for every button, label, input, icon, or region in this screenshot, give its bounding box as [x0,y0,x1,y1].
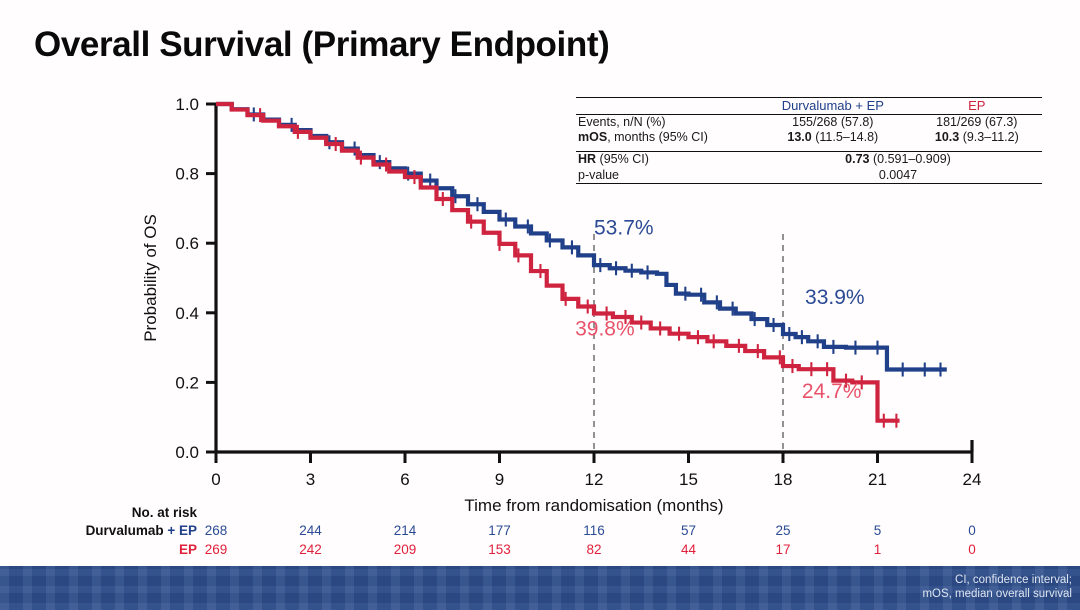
y-axis-title: Probability of OS [141,214,160,342]
risk-value: 0 [950,542,994,557]
x-tick-label-6: 18 [774,470,793,489]
risk-value: 57 [667,523,711,538]
stats-label-mos-bold: mOS [578,130,607,144]
stats-mos-durvalumab-value: 13.0 [787,130,811,144]
risk-value: 214 [383,523,427,538]
footnote-abbreviations: CI, confidence interval; mOS, median ove… [922,574,1072,601]
stats-events-ep: 181/269 (67.3) [912,114,1042,130]
stats-row-mos: mOS, months (95% CI) 13.0 (11.5–14.8) 10… [576,130,1042,146]
stats-row-pvalue: p-value 0.0047 [576,168,1042,184]
x-tick-label-7: 21 [868,470,887,489]
stats-mos-ep-ci: (9.3–11.2) [959,130,1019,144]
x-tick-label-3: 9 [495,470,504,489]
x-tick-label-5: 15 [679,470,698,489]
risk-value: 25 [761,523,805,538]
stats-header-durvalumab: Durvalumab + EP [754,98,912,115]
stats-label-hr: HR (95% CI) [576,152,754,168]
stats-mos-durvalumab: 13.0 (11.5–14.8) [754,130,912,146]
risk-value: 17 [761,542,805,557]
risk-value: 244 [289,523,333,538]
slide-root: Overall Survival (Primary Endpoint) 0.00… [0,0,1080,610]
annotation-33-9pct: 33.9% [805,286,865,309]
stats-label-hr-bold: HR [578,152,596,166]
stats-pvalue-value: 0.0047 [754,168,1042,184]
stats-events-durvalumab: 155/268 (57.8) [754,114,912,130]
stats-label-pvalue: p-value [576,168,754,184]
risk-value: 268 [194,523,238,538]
risk-table-title: No. at risk [0,505,197,520]
statistics-table: Durvalumab + EP EP Events, n/N (%) 155/2… [576,97,1042,184]
risk-label-black: Durvalumab [86,523,168,538]
annotation-53-7pct: 53.7% [594,217,654,240]
kaplan-meier-plot: 0.00.20.40.60.81.003691215182124Time fro… [0,0,1080,560]
annotation-39-8pct: 39.8% [575,317,635,340]
stats-header-blank [576,98,754,115]
stats-label-mos: mOS, months (95% CI) [576,130,754,146]
risk-value: 0 [950,523,994,538]
x-tick-label-0: 0 [211,470,220,489]
x-tick-label-2: 6 [400,470,409,489]
risk-value: 153 [478,542,522,557]
stats-mos-ep-value: 10.3 [935,130,959,144]
stats-header-row: Durvalumab + EP EP [576,98,1042,115]
risk-value: 116 [572,523,616,538]
y-tick-label-5: 1.0 [175,95,199,114]
y-tick-label-0: 0.0 [175,443,199,462]
stats-label-hr-rest: (95% CI) [596,152,649,166]
stats-row-events: Events, n/N (%) 155/268 (57.8) 181/269 (… [576,114,1042,130]
x-tick-label-4: 12 [585,470,604,489]
stats-label-mos-rest: , months (95% CI) [607,130,708,144]
stats-hr-value: 0.73 (0.591–0.909) [754,152,1042,168]
stats-mos-durvalumab-ci: (11.5–14.8) [812,130,878,144]
annotation-24-7pct: 24.7% [802,380,862,403]
risk-table-row-durvalumab: Durvalumab + EP268244214177116572550 [0,523,1080,542]
x-axis-title: Time from randomisation (months) [464,496,723,515]
risk-value: 44 [667,542,711,557]
risk-row-label-durvalumab-ep: Durvalumab + EP [0,523,197,538]
stats-hr-point: 0.73 [845,152,869,166]
risk-value: 209 [383,542,427,557]
stats-label-events: Events, n/N (%) [576,114,754,130]
risk-table-row-ep: EP26924220915382441710 [0,542,1080,561]
risk-value: 242 [289,542,333,557]
x-tick-label-8: 24 [963,470,982,489]
risk-row-label-ep: EP [0,542,197,557]
y-tick-label-1: 0.2 [175,373,199,392]
risk-value: 177 [478,523,522,538]
risk-label-colored: + EP [167,523,197,538]
x-tick-label-1: 3 [306,470,315,489]
risk-value: 1 [856,542,900,557]
bottom-banner [0,566,1080,610]
risk-value: 269 [194,542,238,557]
risk-value: 82 [572,542,616,557]
risk-value: 5 [856,523,900,538]
stats-row-hr: HR (95% CI) 0.73 (0.591–0.909) [576,152,1042,168]
y-tick-label-3: 0.6 [175,234,199,253]
survival-chart: 0.00.20.40.60.81.003691215182124Time fro… [0,0,1080,560]
stats-mos-ep: 10.3 (9.3–11.2) [912,130,1042,146]
stats-header-ep: EP [912,98,1042,115]
stats-hr-ci: (0.591–0.909) [870,152,951,166]
y-tick-label-2: 0.4 [175,304,199,323]
y-tick-label-4: 0.8 [175,165,199,184]
